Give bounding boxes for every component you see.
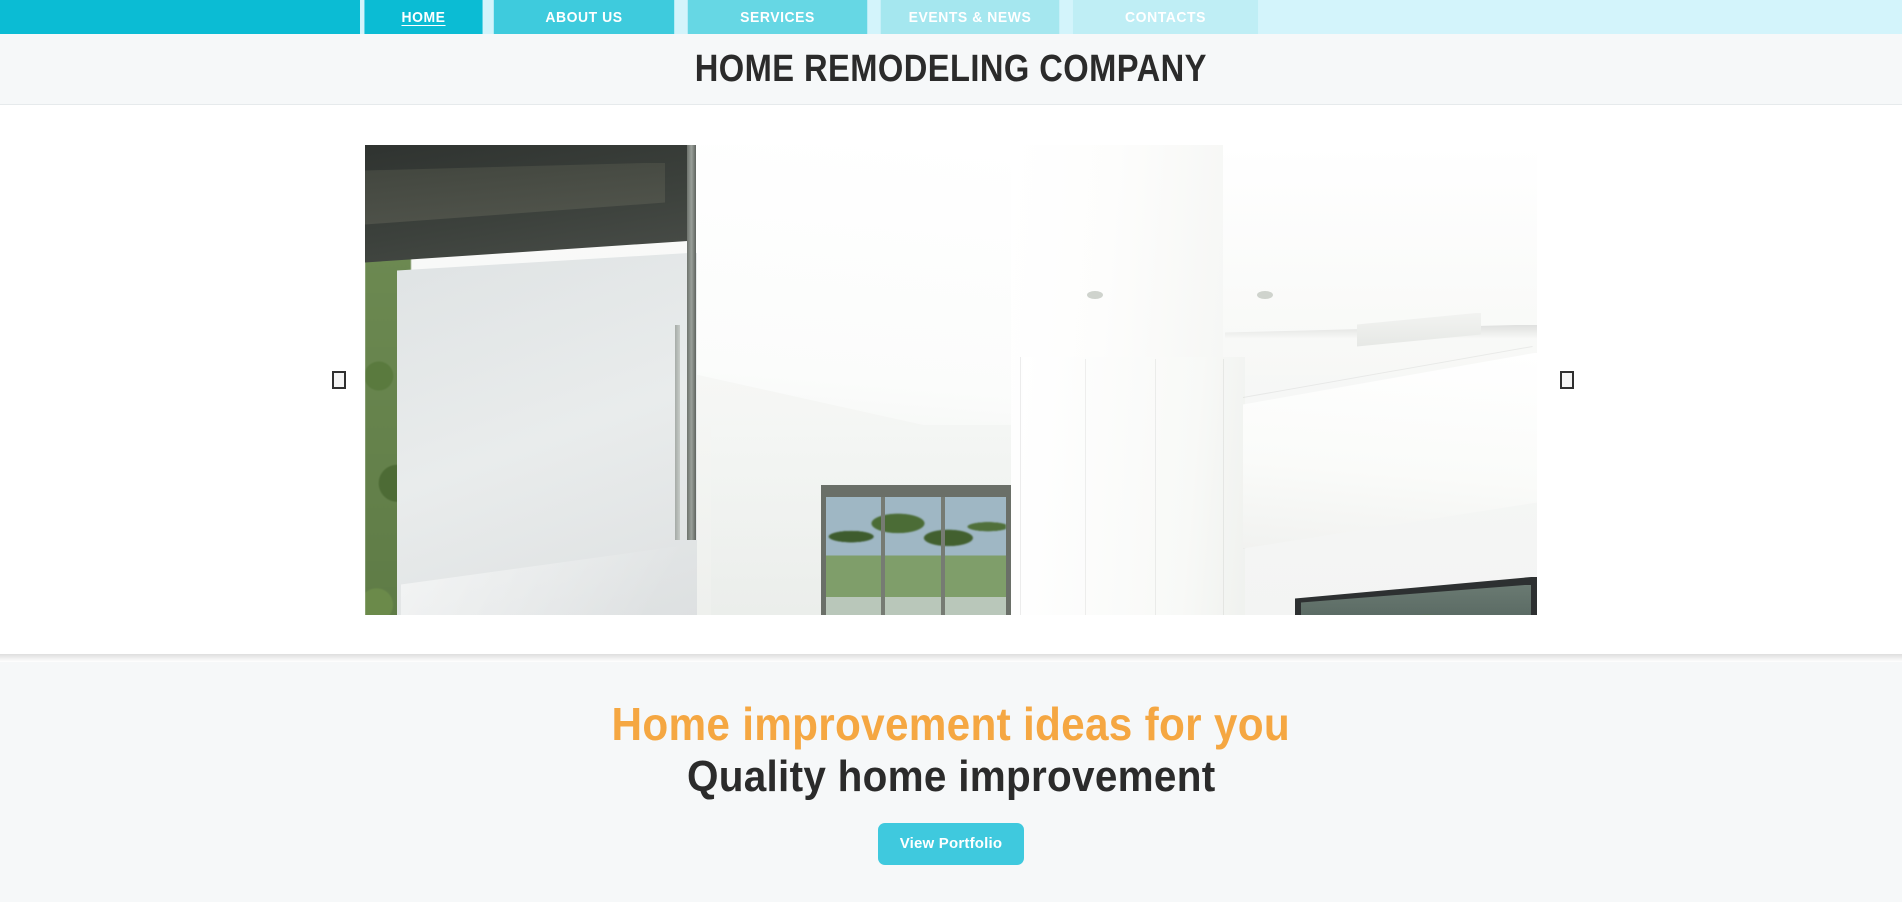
main-navigation: HOME ABOUT US SERVICES EVENTS & NEWS CON… xyxy=(0,0,1902,34)
nav-item-services[interactable]: SERVICES xyxy=(688,0,867,34)
view-portfolio-button[interactable]: View Portfolio xyxy=(878,823,1025,865)
nav-right-filler xyxy=(1265,0,1902,34)
nav-left-filler xyxy=(0,0,360,34)
prev-arrow-glyph xyxy=(332,371,346,389)
next-arrow-glyph xyxy=(1560,371,1574,389)
header-band: HOME REMODELING COMPANY xyxy=(0,34,1902,105)
nav-item-home[interactable]: HOME xyxy=(364,0,482,34)
nav-item-contacts[interactable]: CONTACTS xyxy=(1073,0,1258,34)
page-title: HOME REMODELING COMPANY xyxy=(695,48,1207,91)
carousel-prev-arrow-icon[interactable] xyxy=(327,368,351,392)
promo-section: Home improvement ideas for you Quality h… xyxy=(0,662,1902,902)
promo-headline-secondary: Quality home improvement xyxy=(687,752,1215,801)
carousel-next-arrow-icon[interactable] xyxy=(1555,368,1579,392)
promo-headline-primary: Home improvement ideas for you xyxy=(612,700,1291,750)
nav-item-about-us[interactable]: ABOUT US xyxy=(494,0,674,34)
carousel-slide-image[interactable] xyxy=(365,145,1537,615)
section-divider xyxy=(0,654,1902,662)
interior-photo xyxy=(365,145,1537,615)
nav-item-events-news[interactable]: EVENTS & NEWS xyxy=(881,0,1060,34)
carousel-viewport xyxy=(365,145,1537,615)
hero-carousel xyxy=(0,105,1902,654)
